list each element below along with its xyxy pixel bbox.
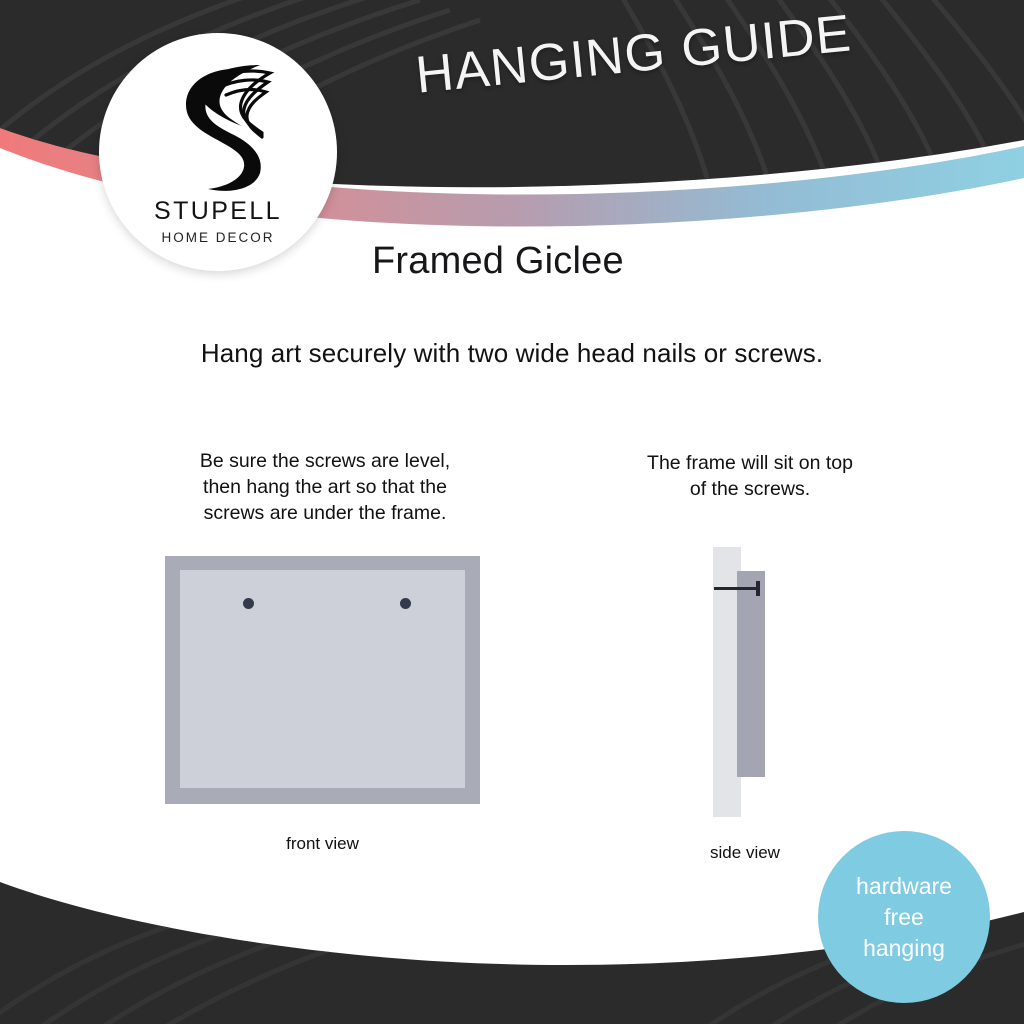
- hardware-free-hanging-badge: hardware free hanging: [818, 831, 990, 1003]
- hanging-guide-page: STUPELL HOME DECOR HANGING GUIDE Framed …: [0, 0, 1024, 1024]
- logo-wordmark: STUPELL: [154, 199, 282, 224]
- front-view-caption-line-3: screws are under the frame.: [170, 500, 480, 526]
- front-view-frame-diagram: [165, 556, 480, 804]
- side-view-caption-line-1: The frame will sit on top: [600, 450, 900, 476]
- side-view-caption: The frame will sit on top of the screws.: [600, 450, 900, 502]
- nail-icon: [714, 587, 760, 590]
- badge-line-2: free: [884, 902, 924, 933]
- side-view-frame-diagram: [705, 540, 785, 825]
- side-view-caption-line-2: of the screws.: [600, 476, 900, 502]
- stupell-swoosh-logo-icon: [156, 61, 280, 193]
- front-view-caption-line-2: then hang the art so that the: [170, 474, 480, 500]
- front-view-caption: Be sure the screws are level, then hang …: [170, 448, 480, 526]
- front-view-caption-line-1: Be sure the screws are level,: [170, 448, 480, 474]
- screw-dot-left: [243, 598, 254, 609]
- nail-head-icon: [756, 581, 760, 596]
- side-view-label: side view: [665, 843, 825, 863]
- logo-subwordmark: HOME DECOR: [161, 231, 274, 245]
- brand-logo-badge: STUPELL HOME DECOR: [99, 33, 337, 271]
- page-title: HANGING GUIDE: [372, 0, 895, 110]
- side-view-frame-strip: [737, 571, 765, 777]
- badge-line-3: hanging: [863, 933, 945, 964]
- product-title: Framed Giclee: [372, 240, 624, 283]
- front-view-label: front view: [165, 834, 480, 854]
- main-instruction-text: Hang art securely with two wide head nai…: [0, 338, 1024, 369]
- front-view-mat-panel: [180, 570, 465, 788]
- badge-line-1: hardware: [856, 871, 952, 902]
- screw-dot-right: [400, 598, 411, 609]
